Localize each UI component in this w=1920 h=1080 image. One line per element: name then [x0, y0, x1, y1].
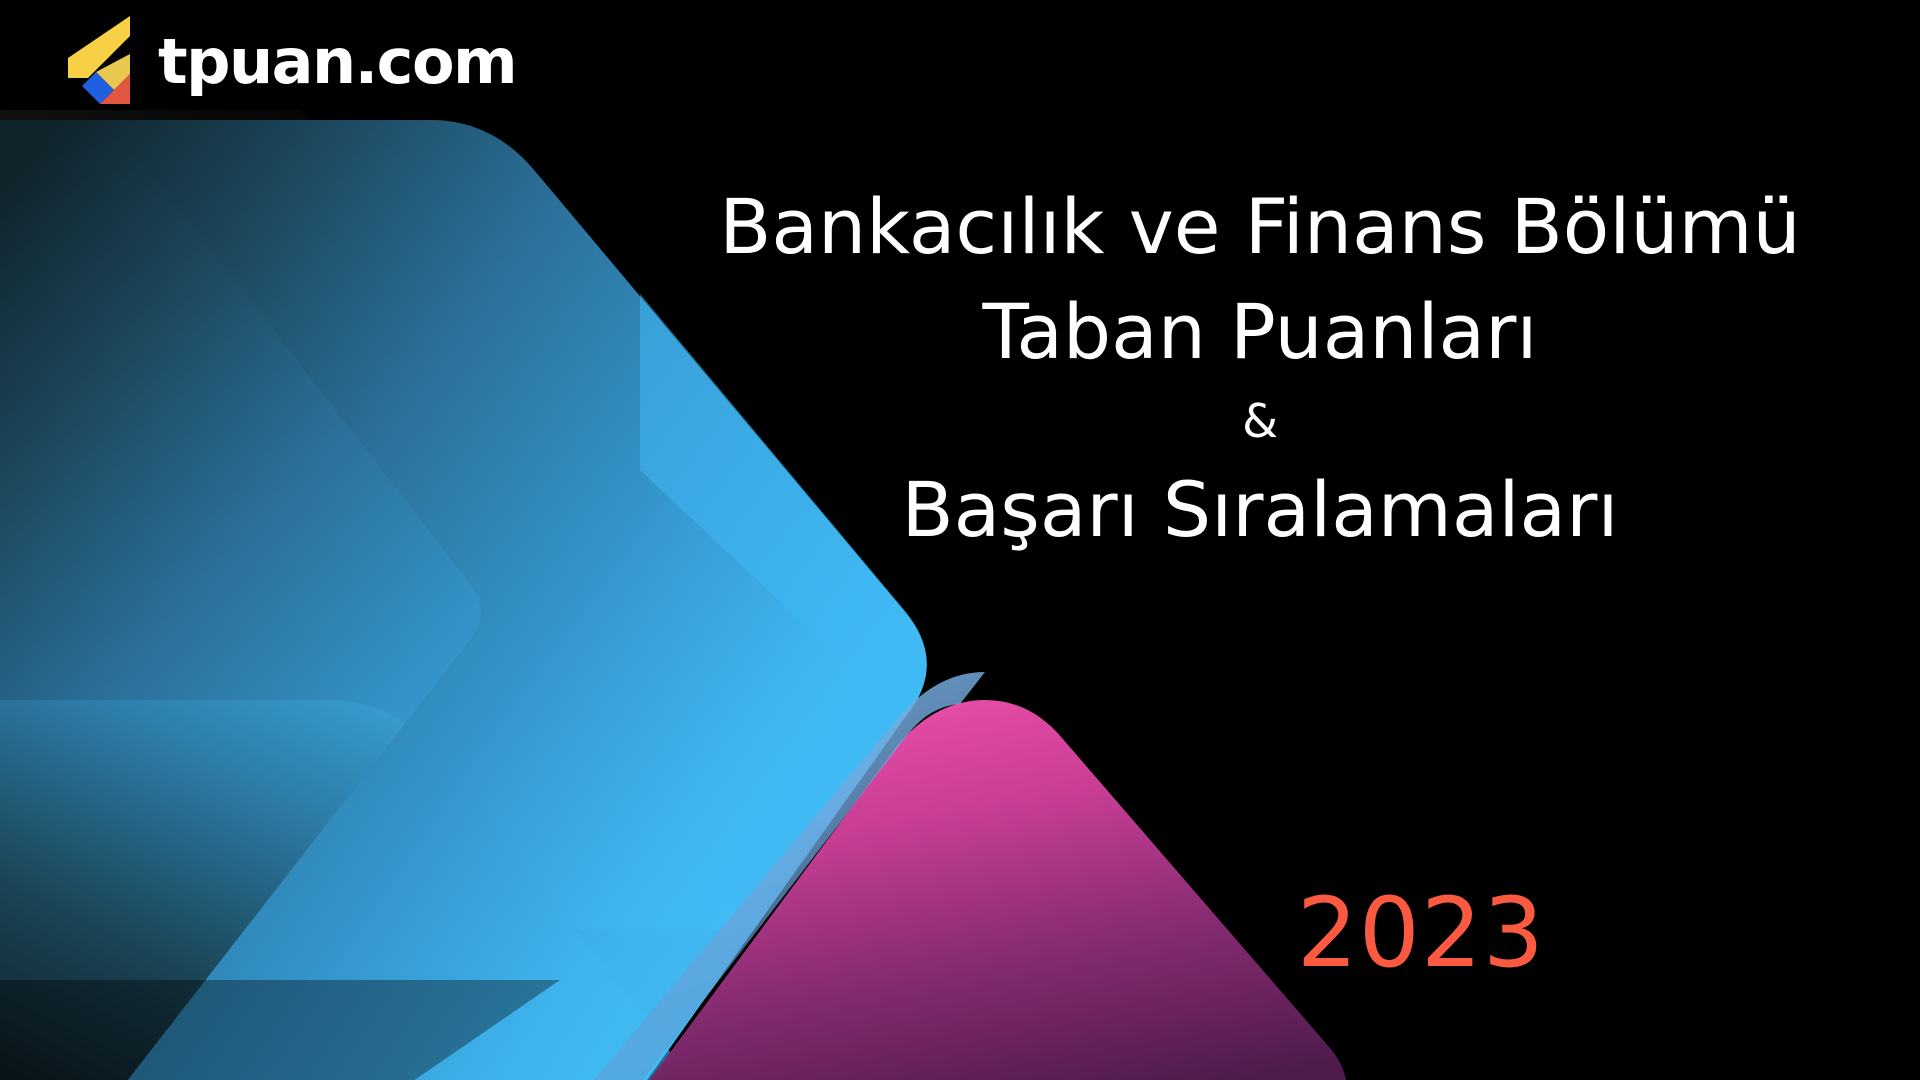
title-line-2: Taban Puanları [640, 280, 1880, 385]
title-ampersand: & [640, 385, 1880, 459]
title-line-4: Başarı Sıralamaları [640, 458, 1880, 563]
brand-logo[interactable]: tpuan.com [62, 14, 516, 106]
tpuan-flutter-mark-icon [62, 14, 136, 106]
title-line-1: Bankacılık ve Finans Bölümü [640, 175, 1880, 280]
brand-wordmark: tpuan.com [158, 31, 516, 93]
year-label: 2023 [0, 885, 1545, 981]
headline-block: Bankacılık ve Finans Bölümü Taban Puanla… [640, 175, 1880, 563]
slide-canvas: tpuan.com Bankacılık ve Finans Bölümü Ta… [0, 0, 1920, 1080]
